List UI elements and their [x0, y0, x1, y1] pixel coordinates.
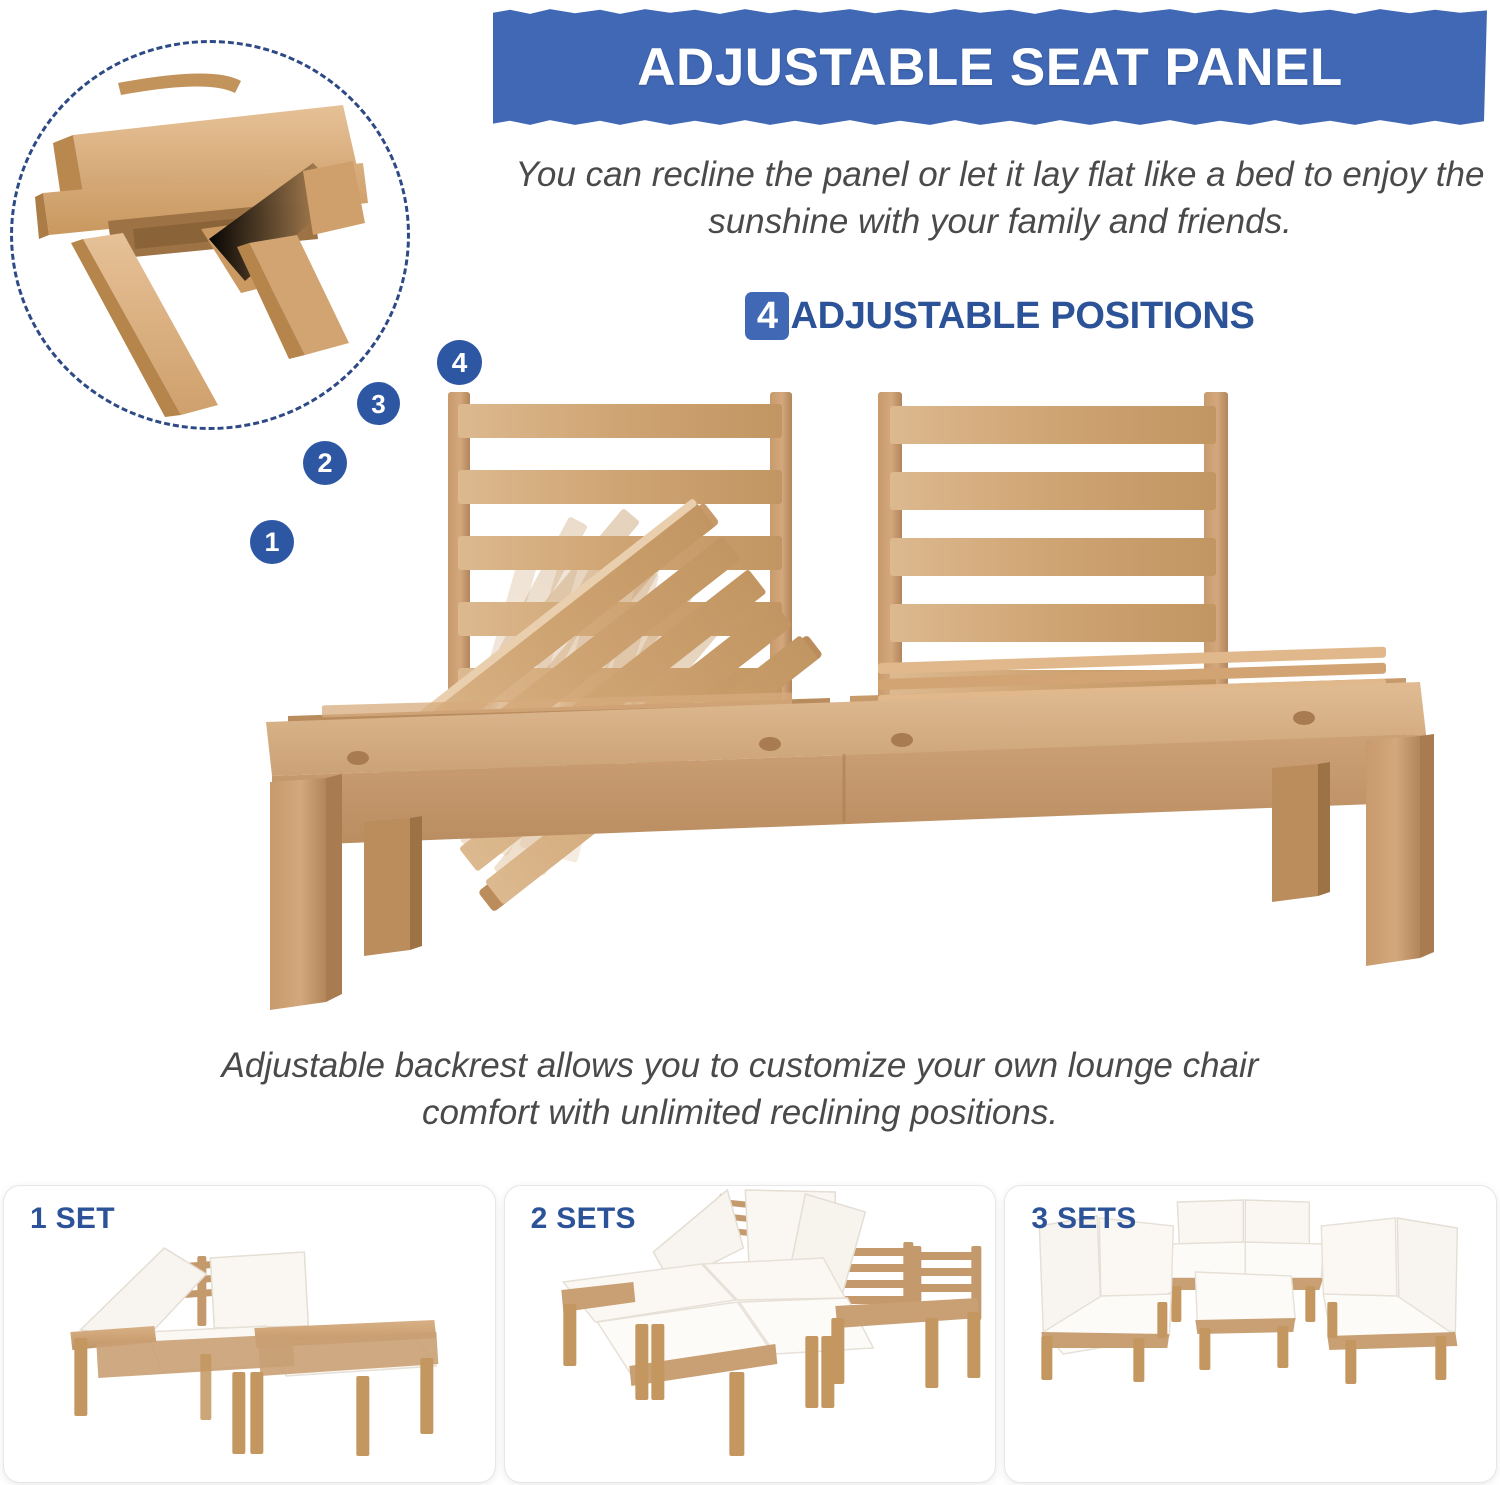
card-one-set[interactable]: 1 SET: [4, 1186, 495, 1482]
card-one-set-label: 1 SET: [30, 1202, 115, 1236]
lounger-frame-svg: [230, 330, 1460, 1050]
seat-base-frame: [266, 647, 1426, 846]
page-title: ADJUSTABLE SEAT PANEL: [490, 8, 1490, 126]
card-three-sets[interactable]: 3 SETS: [1005, 1186, 1496, 1482]
bottom-caption: Adjustable backrest allows you to custom…: [170, 1042, 1310, 1137]
configuration-cards: 1 SET: [0, 1186, 1500, 1482]
main-product-illustration: [230, 330, 1460, 1050]
subtitle-text: You can recline the panel or let it lay …: [500, 152, 1500, 245]
card-two-sets[interactable]: 2 SETS: [505, 1186, 996, 1482]
card-two-sets-label: 2 SETS: [531, 1202, 636, 1236]
card-three-sets-label: 3 SETS: [1031, 1202, 1136, 1236]
title-banner: ADJUSTABLE SEAT PANEL: [490, 8, 1490, 126]
